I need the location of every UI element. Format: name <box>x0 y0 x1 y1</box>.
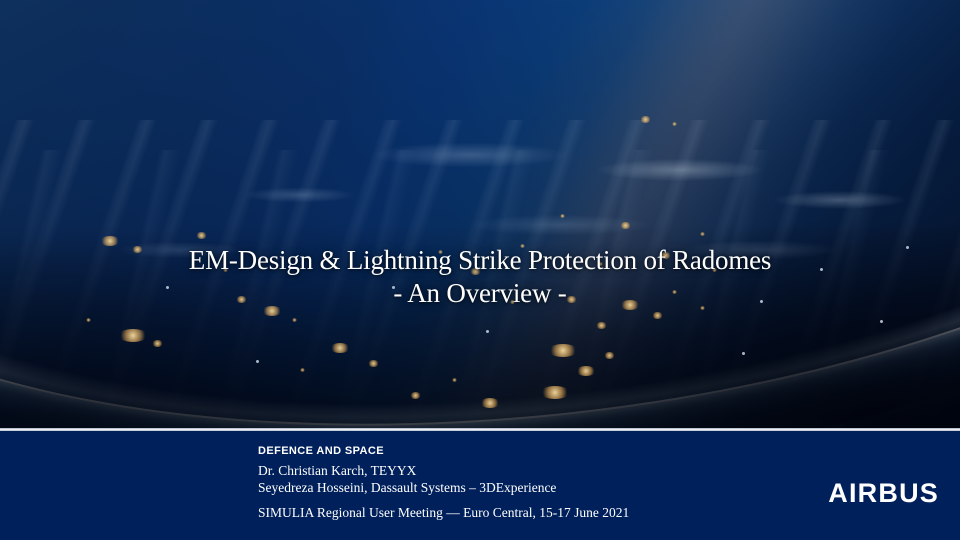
division-label: DEFENCE AND SPACE <box>258 444 629 459</box>
airbus-logo: AIRBUS <box>828 478 939 509</box>
author-primary: Dr. Christian Karch, TEYYX <box>258 462 629 479</box>
footer-bar: DEFENCE AND SPACE Dr. Christian Karch, T… <box>0 431 960 540</box>
event-label: SIMULIA Regional User Meeting — Euro Cen… <box>258 504 629 521</box>
city-lights-cluster <box>0 0 960 430</box>
author-secondary: Seyedreza Hosseini, Dassault Systems – 3… <box>258 479 629 496</box>
footer-text-block: DEFENCE AND SPACE Dr. Christian Karch, T… <box>258 444 629 521</box>
earth-from-space-background-image <box>0 0 960 430</box>
presentation-slide: EM-Design & Lightning Strike Protection … <box>0 0 960 540</box>
